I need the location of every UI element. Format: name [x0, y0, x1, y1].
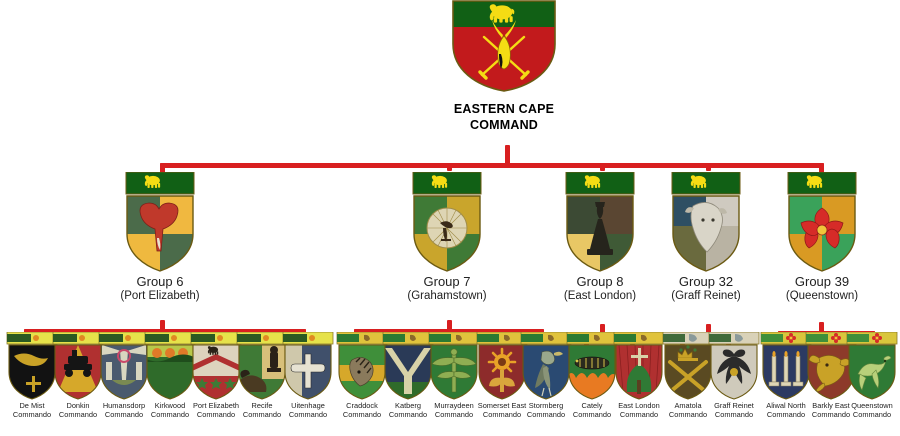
group-6-name: Group 6	[100, 275, 220, 290]
commando-name: Katberg	[395, 401, 421, 410]
group-32-name: Group 32	[646, 275, 766, 290]
group-32-shield	[667, 172, 745, 272]
root-node-eastern-cape-command[interactable]: EASTERN CAPE COMMAND	[444, 0, 564, 140]
connector-drop-group-32	[706, 163, 711, 171]
commando-name: Uitenhage	[291, 401, 325, 410]
commando-name: Queenstown	[851, 401, 893, 410]
commando-name: Stormberg	[529, 401, 564, 410]
commando-node-queenstown[interactable]: Queenstown Commando	[844, 332, 900, 419]
group-node-6[interactable]: Group 6 (Port Elizabeth)	[100, 172, 220, 303]
commando-name: De Mist	[19, 401, 44, 410]
commando-name: Amatola	[674, 401, 701, 410]
group-8-shield	[561, 172, 639, 272]
group-7-name: Group 7	[387, 275, 507, 290]
group-7-location: (Grahamstown)	[387, 290, 507, 303]
commando-name: Craddock	[346, 401, 378, 410]
group-6-shield	[121, 172, 199, 272]
uitenhage-commando-shield	[282, 332, 334, 400]
group-8-name: Group 8	[540, 275, 660, 290]
group-32-location: (Graff Reinet)	[646, 290, 766, 303]
group-39-location: (Queenstown)	[762, 290, 882, 303]
group-node-7[interactable]: Group 7 (Grahamstown)	[387, 172, 507, 303]
group-39-name: Group 39	[762, 275, 882, 290]
commando-name: Recife	[252, 401, 273, 410]
group-6-location: (Port Elizabeth)	[100, 290, 220, 303]
root-title-line2: COMMAND	[470, 118, 538, 132]
group-node-32[interactable]: Group 32 (Graff Reinet)	[646, 172, 766, 303]
eastern-cape-command-shield	[452, 0, 556, 92]
connector-groups-bar	[160, 163, 824, 168]
queenstown-commando-shield	[846, 332, 898, 400]
root-title: EASTERN CAPE COMMAND	[444, 102, 564, 133]
commando-name: East London	[618, 401, 660, 410]
commando-name: Kirkwood	[155, 401, 185, 410]
connector-drop-group-7	[447, 163, 452, 171]
group-7-shield	[408, 172, 486, 272]
group-node-39[interactable]: Group 39 (Queenstown)	[762, 172, 882, 303]
connector-drop-group-8	[600, 163, 605, 171]
group-8-location: (East London)	[540, 290, 660, 303]
commando-name: Donkin	[66, 401, 89, 410]
group-node-8[interactable]: Group 8 (East London)	[540, 172, 660, 303]
commando-name: Cately	[582, 401, 603, 410]
root-title-line1: EASTERN CAPE	[454, 102, 554, 116]
group-39-shield	[783, 172, 861, 272]
commando-suffix: Commando	[844, 410, 900, 419]
org-chart-canvas: EASTERN CAPE COMMAND	[0, 0, 900, 436]
commando-name: Graff Reinet	[714, 401, 754, 410]
commando-label-queenstown: Queenstown Commando	[844, 401, 900, 419]
connector-root-stem	[505, 145, 510, 165]
